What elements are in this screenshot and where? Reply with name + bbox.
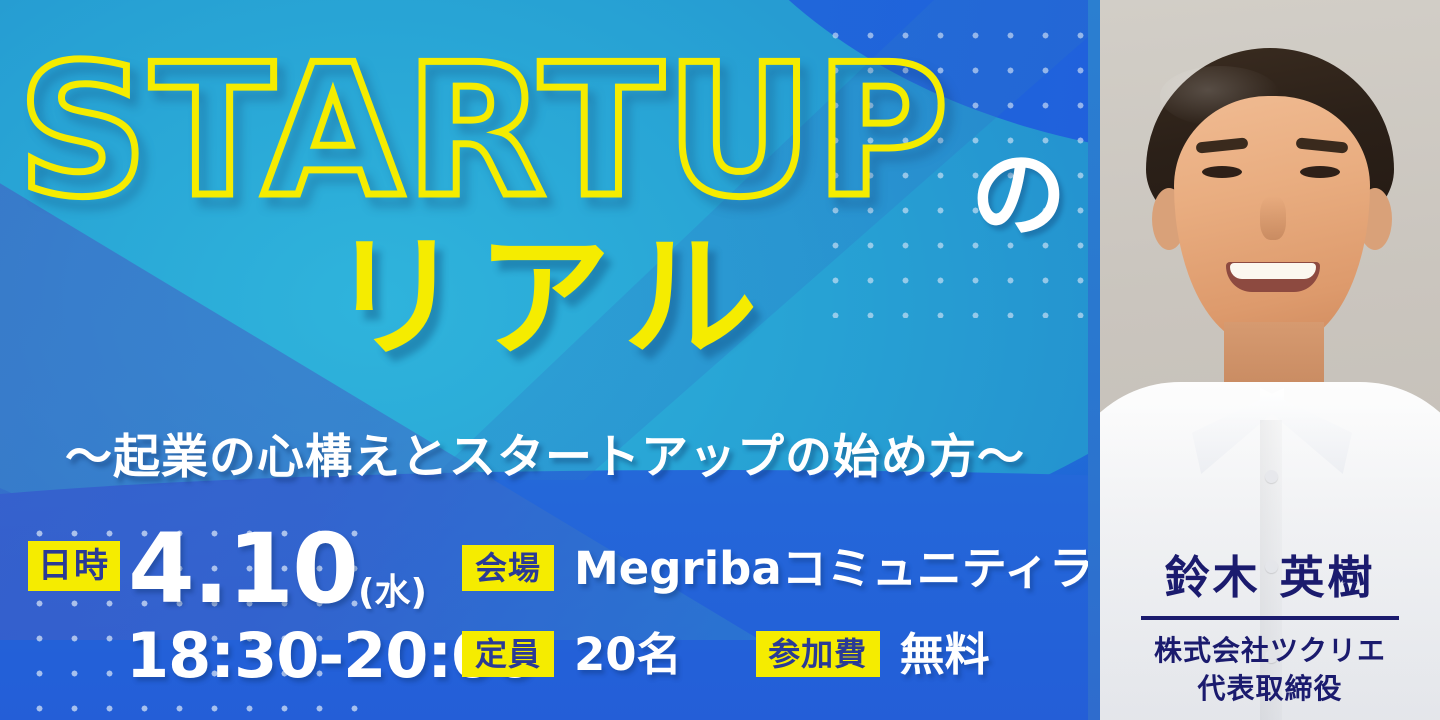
speaker-name-plate: 鈴木 英樹 株式会社ツクリエ 代表取締役 bbox=[1100, 553, 1440, 708]
headline-particle-no: の bbox=[971, 147, 1067, 243]
photo-panel-edge-strip bbox=[1088, 0, 1100, 720]
subtitle-text: 〜起業の心構えとスタートアップの始め方〜 bbox=[0, 418, 1090, 487]
info-row-capacity-fee: 定員 20名 参加費 無料 bbox=[462, 631, 990, 677]
info-row-date: 日時 bbox=[28, 541, 120, 591]
event-poster: STARTUPの リアル 〜起業の心構えとスタートアップの始め方〜 日時 4.1… bbox=[0, 0, 1440, 720]
event-capacity-value: 20名 bbox=[574, 632, 682, 677]
badge-capacity-label: 定員 bbox=[462, 631, 554, 677]
headline-first-line: STARTUPの bbox=[35, 40, 1064, 222]
headline-startup-text: STARTUP bbox=[17, 40, 950, 222]
speaker-name-divider bbox=[1141, 616, 1399, 620]
speaker-photo-panel: 鈴木 英樹 株式会社ツクリエ 代表取締役 bbox=[1100, 0, 1440, 720]
badge-date-label: 日時 bbox=[28, 541, 120, 591]
badge-fee-label: 参加費 bbox=[756, 631, 880, 677]
badge-venue-label: 会場 bbox=[462, 545, 554, 591]
event-fee-value: 無料 bbox=[900, 632, 990, 677]
headline-riaru-text: リアル bbox=[0, 228, 1100, 369]
headline-block: STARTUPの リアル bbox=[0, 40, 1100, 369]
event-info-block: 日時 4.10 (水) 18:30-20:00 会場 Megribaコミュニティ… bbox=[0, 535, 1100, 720]
speaker-company: 株式会社ツクリエ bbox=[1118, 632, 1422, 670]
event-weekday-value: (水) bbox=[358, 575, 427, 611]
speaker-name: 鈴木 英樹 bbox=[1118, 553, 1422, 603]
speaker-title: 代表取締役 bbox=[1118, 670, 1422, 708]
event-date-value: 4.10 bbox=[128, 521, 357, 617]
